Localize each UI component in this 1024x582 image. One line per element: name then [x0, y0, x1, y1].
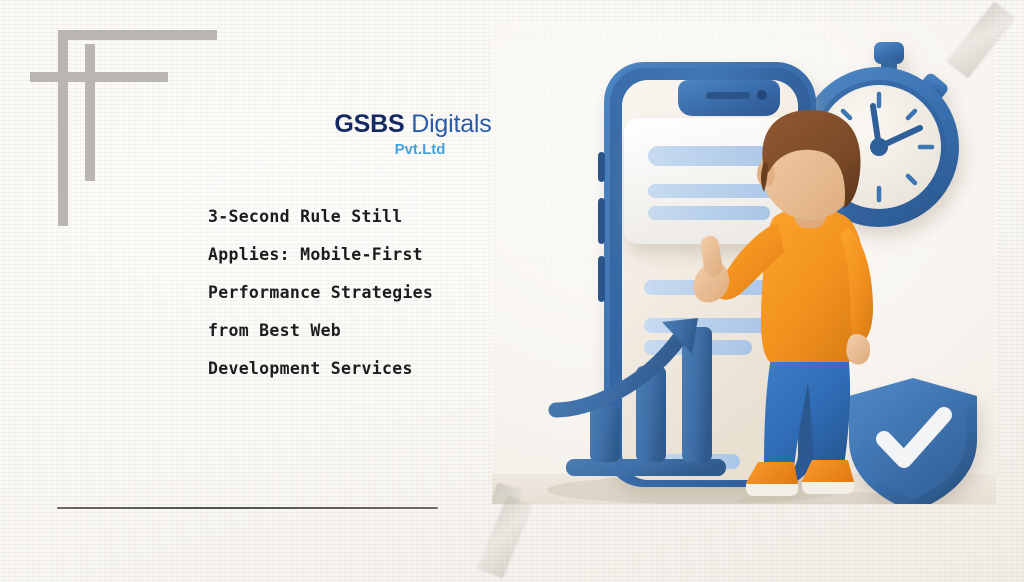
page-title: 3-Second Rule Still Applies: Mobile-Firs… — [208, 198, 504, 388]
person-shoe-right-sole — [802, 482, 854, 494]
phone-speaker — [706, 92, 750, 99]
brand-logo-name: GSBS Digitals — [328, 112, 498, 137]
headline-line-3: Performance Strategies — [208, 274, 504, 312]
deco-bar-vertical-outer — [58, 30, 68, 226]
brand-logo-regular: Digitals — [411, 110, 491, 138]
illustration-panel — [492, 22, 996, 504]
brand-logo-subtitle: Pvt.Ltd — [328, 142, 498, 157]
phone-side-button-3 — [598, 256, 605, 302]
deco-bar-horizontal-top — [58, 30, 217, 40]
blog-banner: GSBS Digitals Pvt.Ltd 3-Second Rule Stil… — [0, 0, 1024, 582]
illustration-scene — [492, 22, 996, 504]
brand-logo: GSBS Digitals Pvt.Ltd — [328, 112, 498, 157]
stopwatch-hub — [870, 138, 888, 156]
chart-bar-1 — [590, 406, 620, 462]
card-bar-3 — [648, 206, 770, 220]
person-shoe-left-sole — [746, 484, 798, 496]
headline-line-2: Applies: Mobile-First — [208, 236, 504, 274]
tape-strip-bottom-left-outer — [478, 496, 531, 578]
headline-line-4: from Best Web — [208, 312, 504, 350]
deco-bar-horizontal-second — [30, 72, 168, 82]
deco-bar-vertical-inner — [85, 44, 95, 181]
security-shield — [849, 378, 977, 504]
headline-line-1: 3-Second Rule Still — [208, 198, 504, 236]
person-hand-right — [846, 334, 870, 365]
phone-side-button-1 — [598, 152, 605, 182]
phone-camera — [757, 90, 767, 100]
brand-logo-bold: GSBS — [334, 110, 404, 138]
headline-line-5: Development Services — [208, 350, 504, 388]
divider-rule — [57, 507, 438, 509]
phone-side-button-2 — [598, 198, 605, 244]
